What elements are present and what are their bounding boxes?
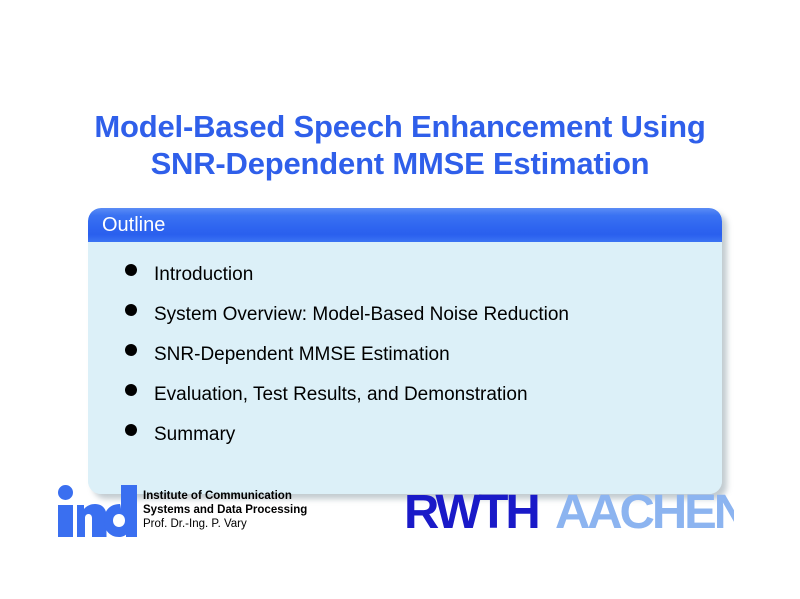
university-logo: RWTH AACHEN [404, 488, 734, 536]
list-item: System Overview: Model-Based Noise Reduc… [88, 304, 722, 344]
title-line-2: SNR-Dependent MMSE Estimation [0, 145, 800, 182]
list-item-label: Evaluation, Test Results, and Demonstrat… [154, 384, 528, 406]
list-item-label: SNR-Dependent MMSE Estimation [154, 344, 450, 366]
outline-panel-header: Outline [88, 208, 722, 242]
slide-footer: Institute of Communication Systems and D… [0, 480, 800, 550]
slide-title: Model-Based Speech Enhancement Using SNR… [0, 108, 800, 182]
list-item: Evaluation, Test Results, and Demonstrat… [88, 384, 722, 424]
outline-panel-title: Outline [102, 215, 165, 235]
bullet-dot-icon [125, 424, 137, 436]
institute-logo: Institute of Communication Systems and D… [57, 485, 307, 537]
list-item-label: System Overview: Model-Based Noise Reduc… [154, 304, 569, 326]
bullet-dot-icon [125, 384, 137, 396]
list-item-label: Introduction [154, 264, 253, 286]
outline-panel: Outline Introduction System Overview: Mo… [88, 208, 722, 494]
bullet-dot-icon [125, 304, 137, 316]
list-item: SNR-Dependent MMSE Estimation [88, 344, 722, 384]
rwth-aachen-icon: RWTH AACHEN [404, 488, 734, 536]
list-item: Summary [88, 424, 722, 464]
outline-list: Introduction System Overview: Model-Base… [88, 242, 722, 494]
title-line-1: Model-Based Speech Enhancement Using [0, 108, 800, 145]
aachen-text: AACHEN [555, 488, 734, 536]
institute-line-3: Prof. Dr.-Ing. P. Vary [143, 517, 307, 532]
presentation-slide: Model-Based Speech Enhancement Using SNR… [0, 0, 800, 599]
list-item-label: Summary [154, 424, 235, 446]
ind-wordmark-icon [57, 485, 137, 537]
institute-name-block: Institute of Communication Systems and D… [143, 485, 307, 532]
list-item: Introduction [88, 264, 722, 304]
institute-line-1: Institute of Communication [143, 490, 307, 504]
bullet-dot-icon [125, 344, 137, 356]
bullet-dot-icon [125, 264, 137, 276]
institute-line-2: Systems and Data Processing [143, 504, 307, 518]
rwth-text: RWTH [404, 488, 538, 536]
